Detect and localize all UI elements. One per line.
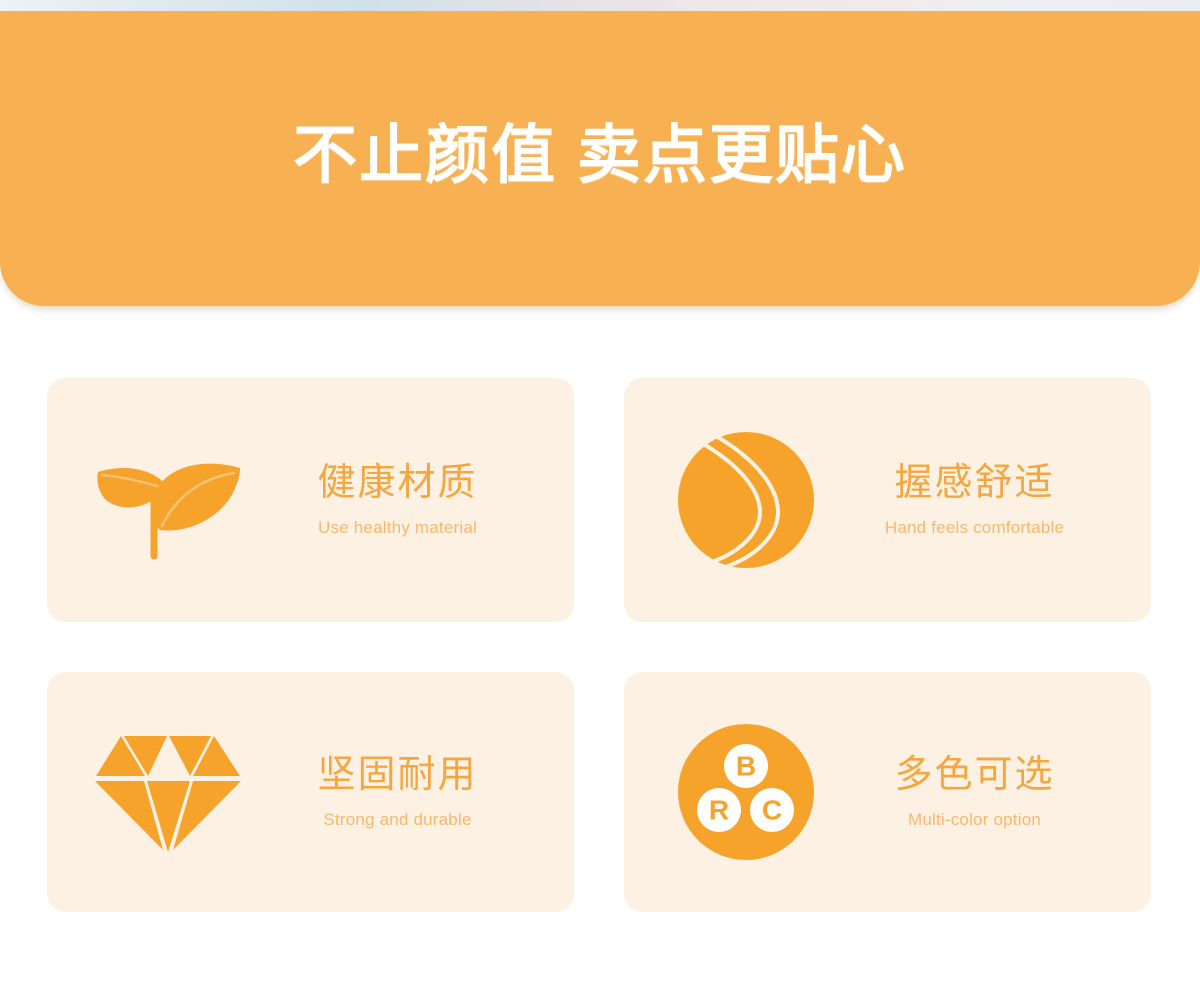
feature-subtitle: Hand feels comfortable	[885, 518, 1064, 538]
feature-card-text: 多色可选 Multi-color option	[826, 754, 1151, 830]
feature-subtitle: Multi-color option	[908, 810, 1041, 830]
feature-subtitle: Use healthy material	[318, 518, 477, 538]
badge-letter-c: C	[762, 795, 782, 826]
feature-title: 握感舒适	[894, 462, 1054, 506]
badge-letter-b: B	[736, 751, 756, 782]
diamond-icon	[89, 722, 249, 862]
feature-title: 坚固耐用	[317, 754, 477, 798]
feature-card-text: 健康材质 Use healthy material	[249, 462, 574, 538]
feature-card-text: 坚固耐用 Strong and durable	[249, 754, 574, 830]
badge-letter-r: R	[709, 795, 729, 826]
banner-title: 不止颜值 卖点更贴心	[293, 123, 907, 187]
sprout-leaf-icon	[89, 430, 249, 570]
feature-grid: 健康材质 Use healthy material 握感舒适 Hand feel…	[47, 378, 1150, 912]
sphere-grip-icon	[666, 430, 826, 570]
feature-card-multi-color[interactable]: B R C 多色可选 Multi-color option	[624, 672, 1151, 912]
color-options-brc-icon: B R C	[666, 722, 826, 862]
feature-subtitle: Strong and durable	[323, 810, 471, 830]
feature-card-healthy-material[interactable]: 健康材质 Use healthy material	[47, 378, 574, 622]
feature-title: 多色可选	[894, 754, 1054, 798]
feature-card-text: 握感舒适 Hand feels comfortable	[826, 462, 1151, 538]
feature-card-strong-durable[interactable]: 坚固耐用 Strong and durable	[47, 672, 574, 912]
feature-card-comfortable-grip[interactable]: 握感舒适 Hand feels comfortable	[624, 378, 1151, 622]
hero-banner: 不止颜值 卖点更贴心	[0, 11, 1200, 306]
feature-title: 健康材质	[317, 462, 477, 506]
